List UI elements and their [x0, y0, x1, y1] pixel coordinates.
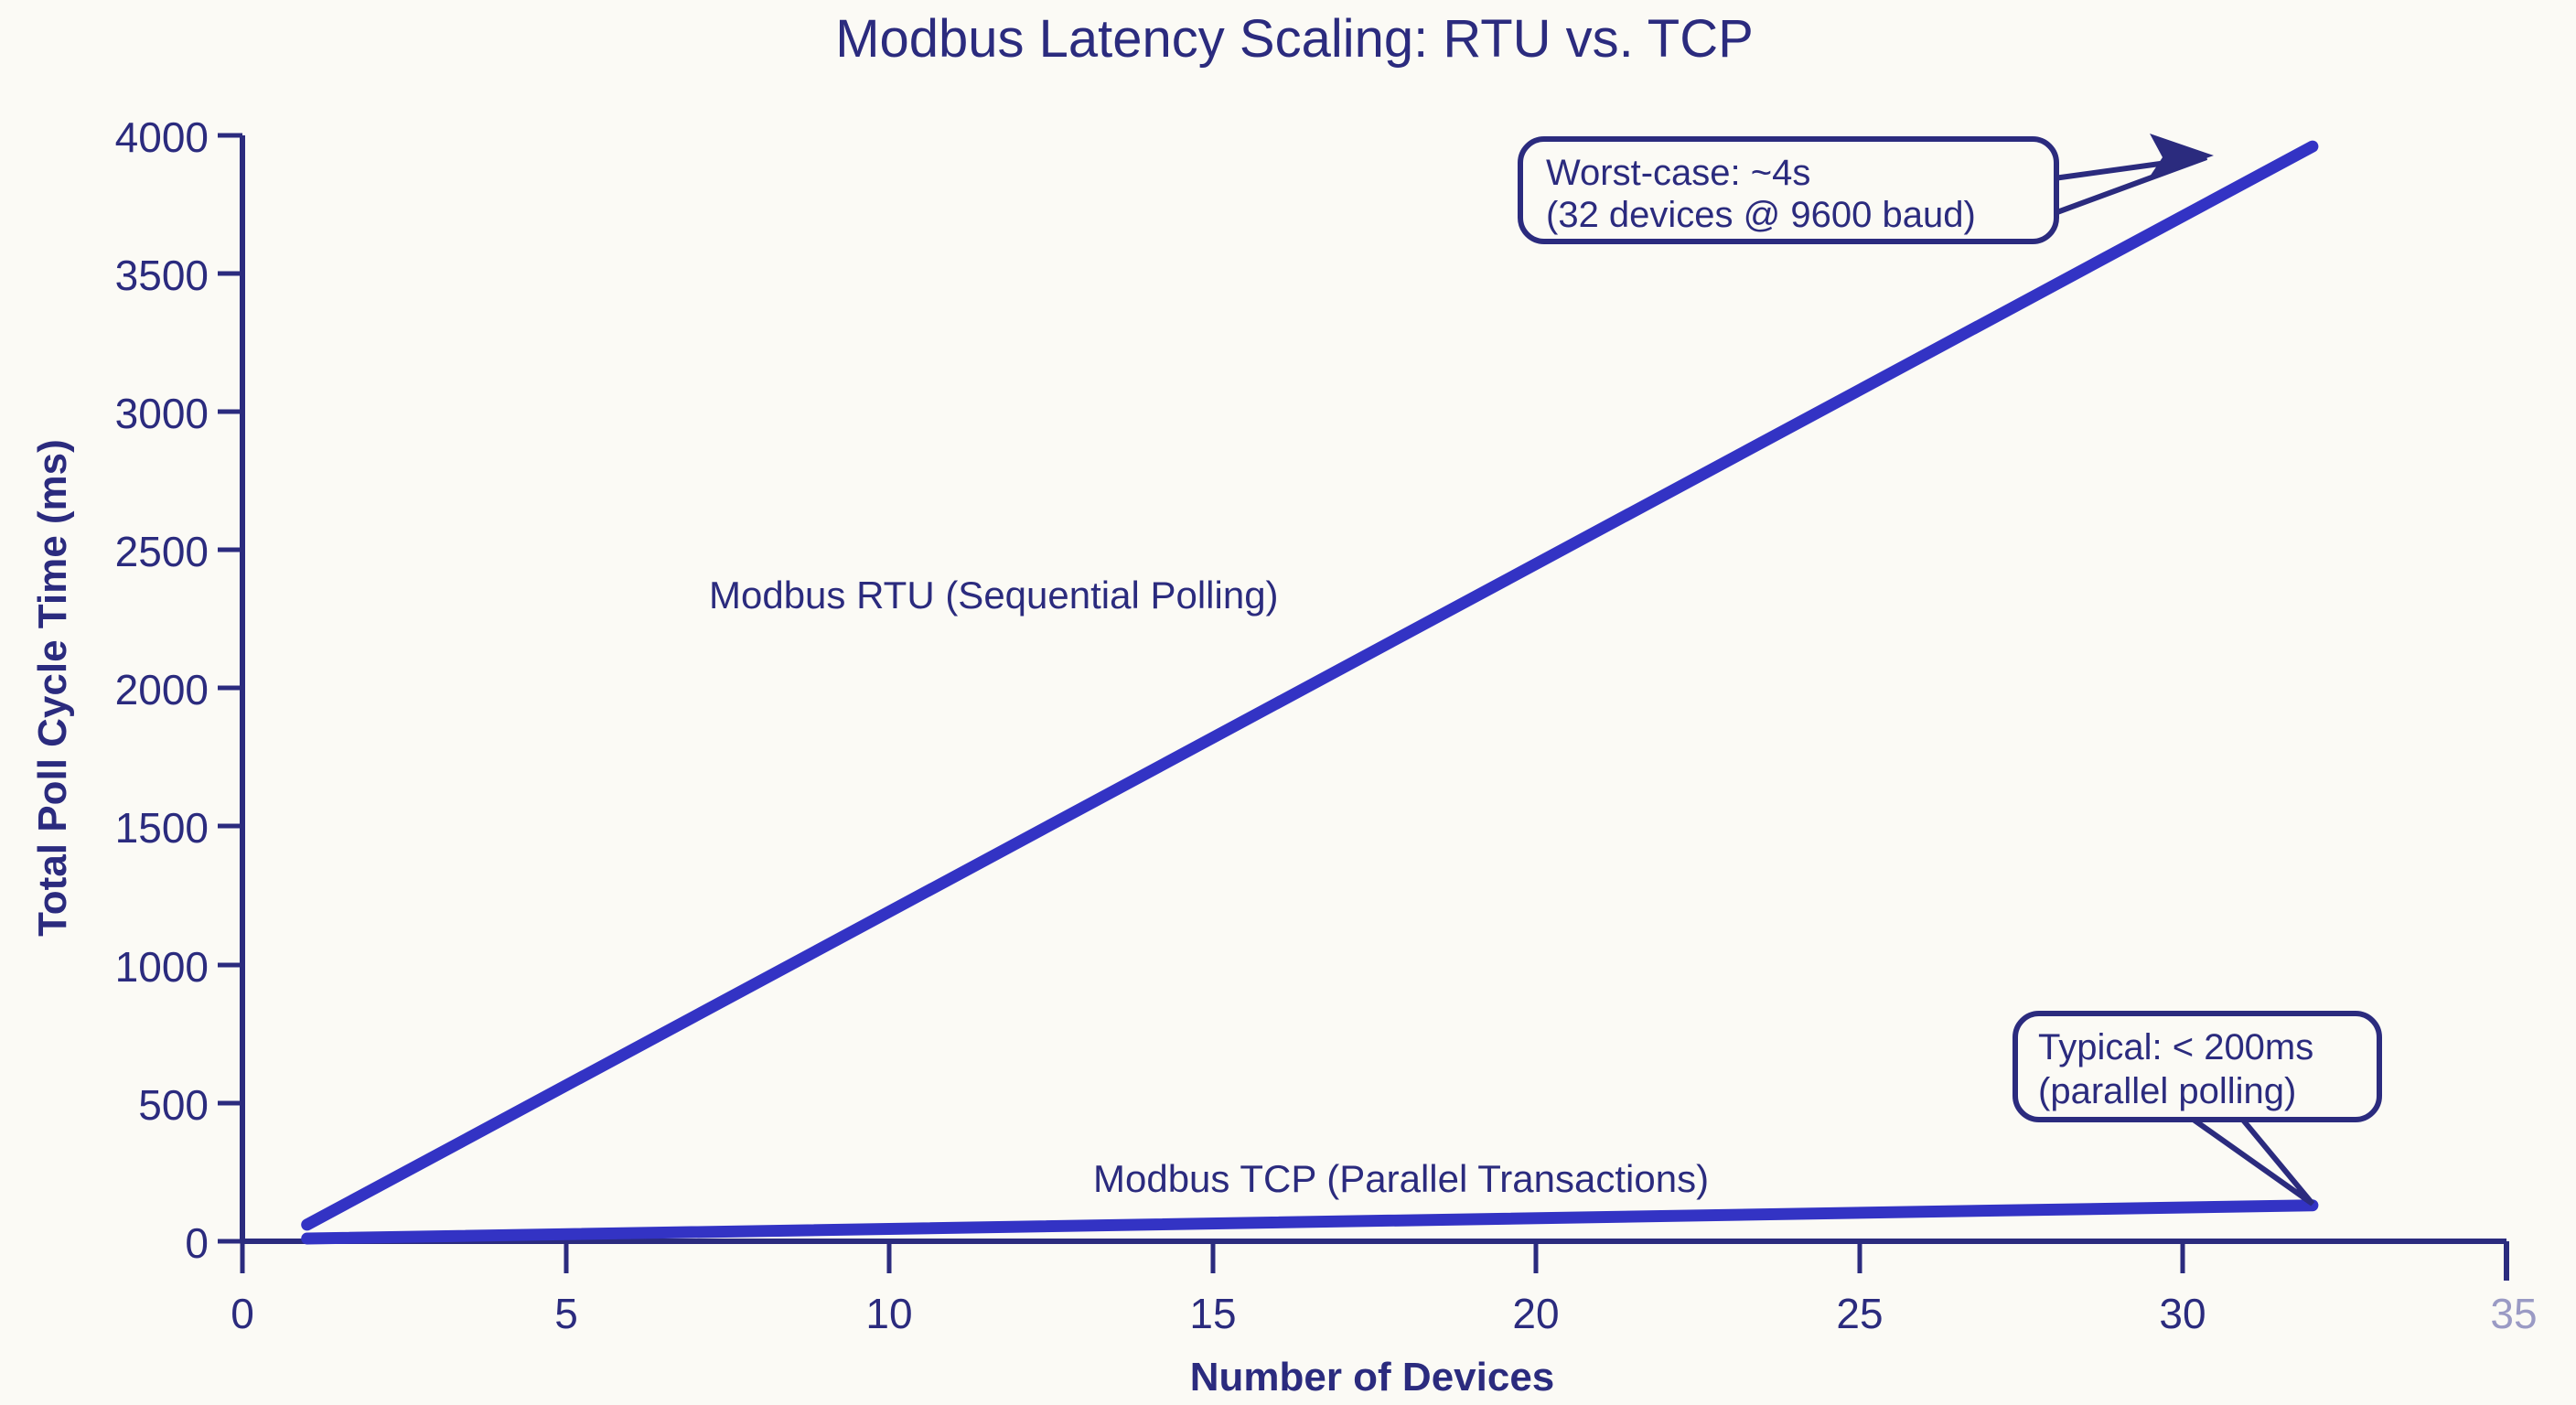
worst-case-line-1: Worst-case: ~4s	[1546, 153, 1810, 193]
typical-line-1: Typical: < 200ms	[2038, 1027, 2313, 1067]
y-tick-label-3500: 3500	[115, 252, 209, 299]
y-axis-ticks: 4000 3500 3000 2500 2000 1500 1000 500 0	[115, 113, 242, 1267]
tcp-line	[307, 1206, 2313, 1239]
y-tick-label-2500: 2500	[115, 528, 209, 575]
worst-case-arrowhead-icon	[2148, 134, 2214, 179]
typical-line-2: (parallel polling)	[2038, 1071, 2296, 1111]
series-label-rtu: Modbus RTU (Sequential Polling)	[709, 574, 1279, 617]
x-tick-label-30: 30	[2159, 1290, 2206, 1337]
series-modbus-tcp	[307, 1206, 2313, 1239]
annotation-worst-case: Worst-case: ~4s (32 devices @ 9600 baud)	[1520, 134, 2214, 241]
x-tick-label-20: 20	[1512, 1290, 1559, 1337]
x-tick-label-10: 10	[865, 1290, 912, 1337]
line-chart: Modbus Latency Scaling: RTU vs. TCP 4000…	[0, 0, 2576, 1405]
y-tick-label-1500: 1500	[115, 804, 209, 852]
x-axis-title: Number of Devices	[1190, 1355, 1555, 1400]
x-tick-label-25: 25	[1836, 1290, 1883, 1337]
x-tick-label-35: 35	[2490, 1290, 2537, 1337]
y-tick-label-500: 500	[138, 1081, 209, 1129]
rtu-line	[307, 146, 2313, 1225]
x-axis-ticks: 0 5 10 15 20 25 30 35	[231, 1241, 2537, 1337]
x-tick-label-15: 15	[1189, 1290, 1236, 1337]
x-tick-label-0: 0	[231, 1290, 254, 1337]
worst-case-line-2: (32 devices @ 9600 baud)	[1546, 195, 1976, 235]
typical-callout-tail	[2191, 1118, 2313, 1204]
y-tick-label-4000: 4000	[115, 113, 209, 161]
y-tick-label-2000: 2000	[115, 666, 209, 713]
y-axis-title: Total Poll Cycle Time (ms)	[30, 439, 75, 937]
x-tick-label-5: 5	[554, 1290, 578, 1337]
y-tick-label-3000: 3000	[115, 390, 209, 437]
series-modbus-rtu	[307, 146, 2313, 1225]
series-label-tcp: Modbus TCP (Parallel Transactions)	[1093, 1157, 1709, 1200]
y-tick-label-1000: 1000	[115, 943, 209, 991]
annotation-typical: Typical: < 200ms (parallel polling)	[2015, 1014, 2379, 1204]
y-tick-label-0: 0	[185, 1219, 209, 1267]
page-title: Modbus Latency Scaling: RTU vs. TCP	[835, 9, 1754, 69]
chart-canvas: Modbus Latency Scaling: RTU vs. TCP 4000…	[0, 0, 2576, 1405]
